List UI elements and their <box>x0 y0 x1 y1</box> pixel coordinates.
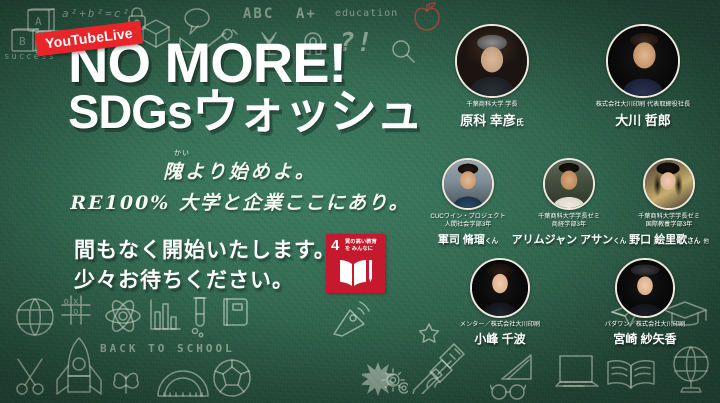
speaker-card: 千葉商科大学 学長 原科 幸彦氏 <box>418 24 566 129</box>
abc-chalk-text: ABC <box>243 6 274 22</box>
speaker-name-text: 小峰 千波 <box>474 332 525 346</box>
speaker-name-suffix: くん <box>485 238 498 245</box>
rocket-icon <box>54 336 104 402</box>
avatar <box>455 24 529 98</box>
test-tube-icon <box>188 296 212 338</box>
speaker-name: 小峰 千波 <box>430 330 570 347</box>
butterfly-icon <box>112 370 140 398</box>
announcement-line-2: 少々お待ちください。 <box>74 266 336 296</box>
speaker-name-text: 軍司 脩瑠 <box>438 234 485 246</box>
globe-icon <box>14 296 56 338</box>
headline-line-2: SDGsウォッシュ <box>68 89 422 135</box>
bar-chart-icon <box>148 298 182 332</box>
speaker-role: 千葉商科大学学長ゼミ 国際教養学部3年 <box>618 213 720 230</box>
speaker-role: 千葉商科大学学長ゼミ 商経学部3年 <box>510 213 628 230</box>
announcement-line-1: 間もなく開始いたします。 <box>74 236 336 266</box>
avatar <box>470 258 530 318</box>
avatar <box>606 24 680 98</box>
protractor-icon <box>156 368 210 400</box>
speaker-name-text: アリムジャン アサン <box>512 234 614 246</box>
back-to-school-chalk-text: BACK TO SCHOOL <box>100 342 235 355</box>
tic-tac-toe-icon: o x o <box>60 294 92 326</box>
speaker-name: 軍司 脩瑠くん <box>418 231 518 247</box>
speaker-name-text: 宮崎 紗矢香 <box>613 332 676 346</box>
svg-text:A: A <box>35 15 42 28</box>
standby-announcement: 間もなく開始いたします。 少々お待ちください。 <box>74 236 336 297</box>
satellite-dish-icon <box>330 298 370 338</box>
speaker-name: 宮崎 紗矢香 <box>570 330 720 347</box>
catchcopy-line-1: 隗より始めよ。 <box>70 157 410 184</box>
sdg-number: 4 <box>331 238 339 253</box>
speaker-name-text: 原科 幸彦 <box>460 113 516 128</box>
catchcopy: かい 隗より始めよ。 RE100% 大学と企業ここにあり。 <box>70 148 410 215</box>
avatar <box>543 158 595 210</box>
speaker-name-etc: 他 <box>703 239 709 245</box>
speaker-role: メンター／株式会社大川印刷 <box>430 321 570 329</box>
svg-text:x: x <box>73 297 79 307</box>
speaker-card: 株式会社大川印刷 代表取締役社長 大川 哲郎 <box>566 24 720 129</box>
svg-text:o: o <box>64 297 69 307</box>
speaker-name-suffix: さん <box>687 238 700 245</box>
pythagoras-chalk-text: a²+b²=c² <box>62 7 131 20</box>
soccer-ball-icon <box>212 358 252 398</box>
speaker-list: 千葉商科大学 学長 原科 幸彦氏 株式会社大川印刷 代表取締役社長 大川 哲郎 … <box>418 0 720 403</box>
speaker-name: アリムジャン アサンくん <box>510 231 628 247</box>
avatar <box>442 158 494 210</box>
speaker-name-text: 野口 絵里歌 <box>629 234 687 246</box>
gear-icon <box>362 358 408 402</box>
speaker-role: 千葉商科大学 学長 <box>418 101 566 109</box>
speaker-name: 原科 幸彦氏 <box>418 110 566 129</box>
avatar <box>643 158 695 210</box>
scissors-icon <box>14 356 48 396</box>
speaker-name-text: 大川 哲郎 <box>615 113 671 128</box>
catchcopy-ruby: かい <box>0 148 410 158</box>
svg-text:o: o <box>73 307 78 317</box>
speaker-card: メンター／株式会社大川印刷 小峰 千波 <box>430 258 570 347</box>
speaker-role: 株式会社大川印刷 代表取締役社長 <box>566 101 720 109</box>
catchcopy-line-2: RE100% 大学と企業ここにあり。 <box>70 188 410 215</box>
book-icon <box>220 296 250 326</box>
stream-waiting-screen: ABC a²+b²=c² success ABC A+ education <box>0 0 720 403</box>
open-book-pen-icon <box>339 258 373 288</box>
speaker-card: 千葉商科大学学長ゼミ 国際教養学部3年 野口 絵里歌さん他 <box>618 158 720 247</box>
a-plus-chalk-text: A+ <box>296 6 317 22</box>
speaker-card: パダワン／株式会社大川印刷 宮崎 紗矢香 <box>570 258 720 347</box>
sdg-goal-4-badge: 4 質の高い教育を みんなに <box>326 234 385 293</box>
page-title: NO MORE! SDGsウォッシュ <box>68 36 422 135</box>
education-chalk-text: education <box>335 8 398 19</box>
speaker-card: 千葉商科大学学長ゼミ 商経学部3年 アリムジャン アサンくん <box>510 158 628 247</box>
avatar <box>615 258 675 318</box>
speaker-role: パダワン／株式会社大川印刷 <box>570 321 720 329</box>
svg-text:B: B <box>19 35 26 48</box>
speaker-name-suffix: 氏 <box>516 118 524 127</box>
atom-icon <box>104 298 142 334</box>
speaker-name: 大川 哲郎 <box>566 110 720 129</box>
speaker-card: CUCワイン・プロジェクト 人間社会学部3年 軍司 脩瑠くん <box>418 158 518 247</box>
speaker-name: 野口 絵里歌さん他 <box>618 231 720 247</box>
speaker-role: CUCワイン・プロジェクト 人間社会学部3年 <box>418 213 518 230</box>
sdg-caption: 質の高い教育を みんなに <box>345 239 382 252</box>
